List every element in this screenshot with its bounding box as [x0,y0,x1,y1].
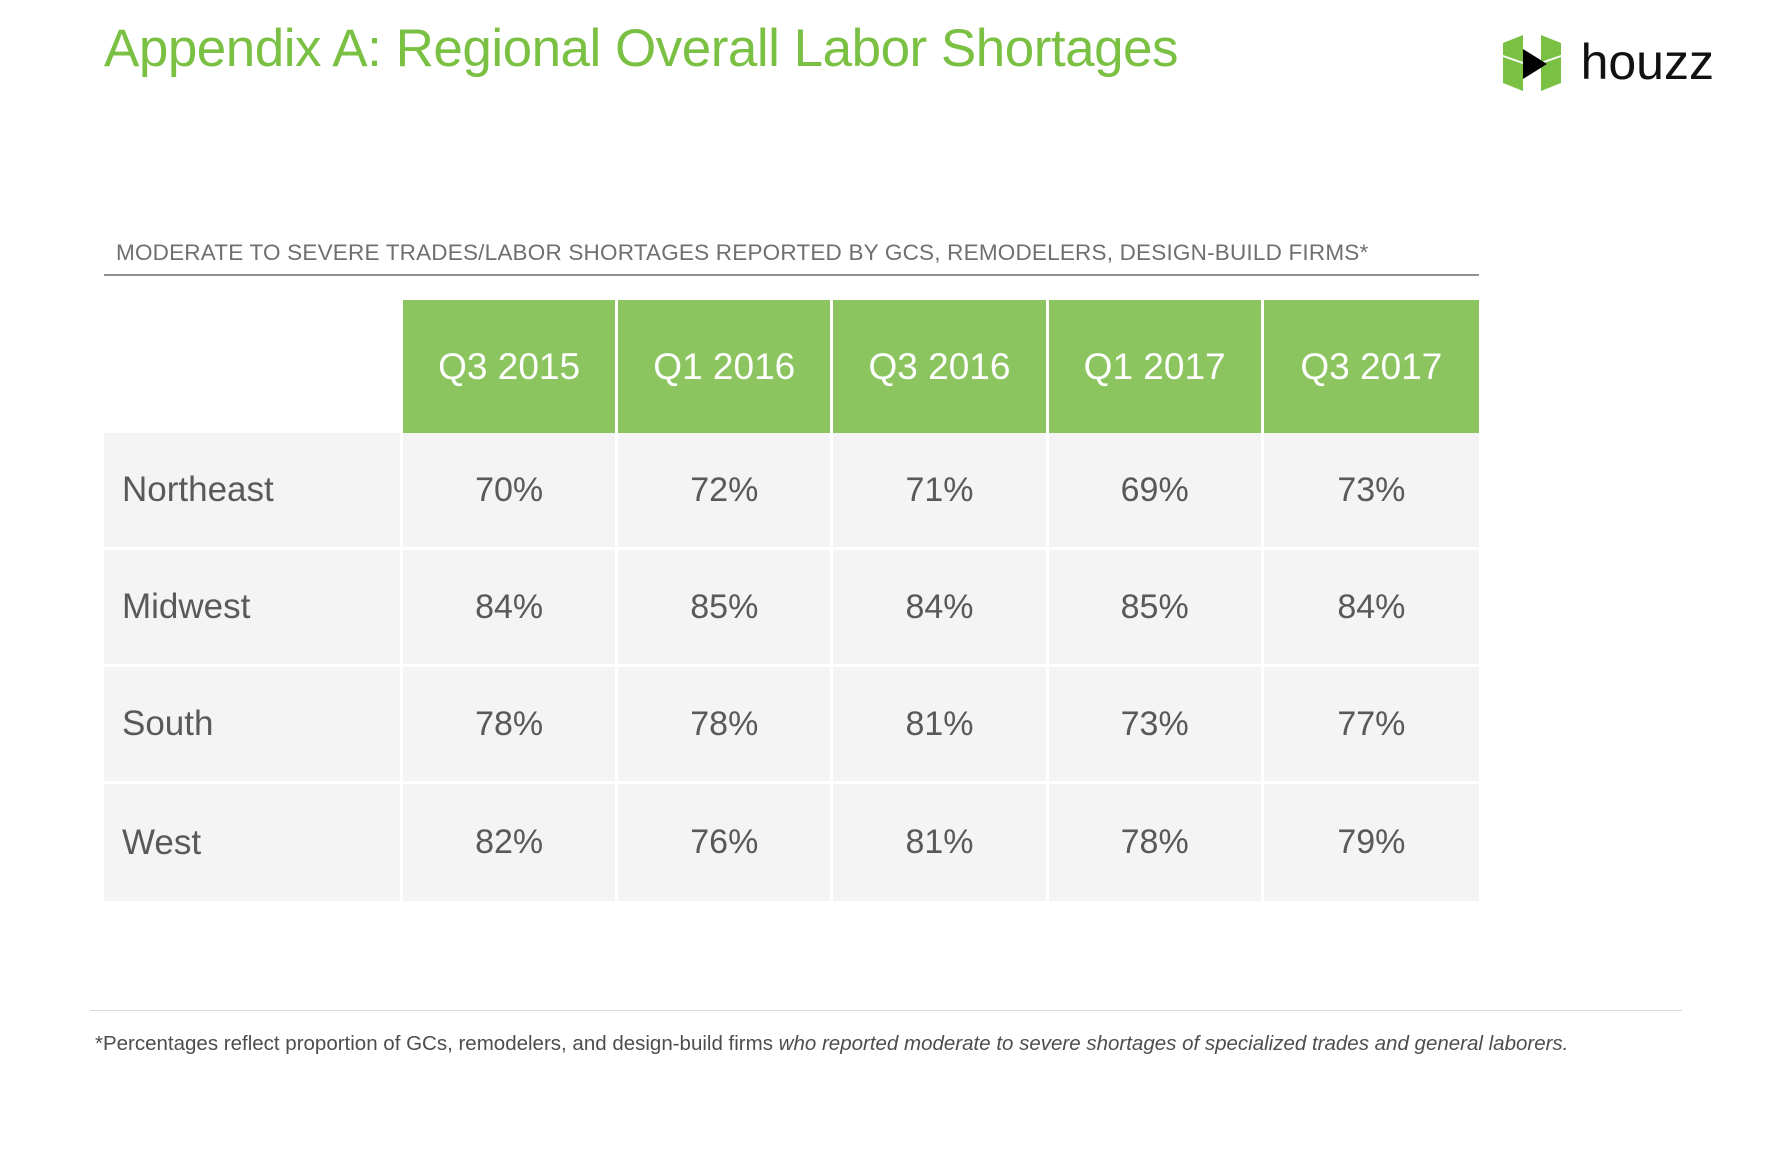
cell-south-q3-2017: 77% [1264,667,1479,784]
cell-northeast-q3-2017: 73% [1264,433,1479,550]
labor-shortage-table: Q3 2015 Q1 2016 Q3 2016 Q1 2017 Q3 2017 … [104,300,1479,901]
section-divider [104,274,1479,276]
table-corner-cell [104,300,403,433]
footnote: *Percentages reflect proportion of GCs, … [95,1032,1568,1056]
column-header-q3-2017: Q3 2017 [1264,300,1479,433]
brand-lockup: houzz [1501,33,1714,95]
data-table-container: Q3 2015 Q1 2016 Q3 2016 Q1 2017 Q3 2017 … [104,300,1479,901]
cell-midwest-q1-2017: 85% [1049,550,1264,667]
cell-west-q3-2016: 81% [833,784,1048,901]
column-header-q3-2015: Q3 2015 [403,300,618,433]
table-body: Northeast 70% 72% 71% 69% 73% Midwest 84… [104,433,1479,901]
cell-northeast-q1-2016: 72% [618,433,833,550]
cell-west-q1-2016: 76% [618,784,833,901]
table-row: West 82% 76% 81% 78% 79% [104,784,1479,901]
table-row: Midwest 84% 85% 84% 85% 84% [104,550,1479,667]
cell-northeast-q3-2016: 71% [833,433,1048,550]
table-header-row: Q3 2015 Q1 2016 Q3 2016 Q1 2017 Q3 2017 [104,300,1479,433]
footnote-divider [90,1010,1682,1011]
table-row: Northeast 70% 72% 71% 69% 73% [104,433,1479,550]
cell-northeast-q3-2015: 70% [403,433,618,550]
cell-midwest-q1-2016: 85% [618,550,833,667]
brand-wordmark: houzz [1581,37,1714,91]
column-header-q3-2016: Q3 2016 [833,300,1048,433]
cell-south-q1-2016: 78% [618,667,833,784]
table-header: Q3 2015 Q1 2016 Q3 2016 Q1 2017 Q3 2017 [104,300,1479,433]
table-row: South 78% 78% 81% 73% 77% [104,667,1479,784]
cell-south-q3-2016: 81% [833,667,1048,784]
cell-midwest-q3-2016: 84% [833,550,1048,667]
houzz-logo-icon [1501,33,1563,95]
row-label-midwest: Midwest [104,550,403,667]
cell-northeast-q1-2017: 69% [1049,433,1264,550]
row-label-south: South [104,667,403,784]
cell-west-q3-2015: 82% [403,784,618,901]
cell-south-q3-2015: 78% [403,667,618,784]
row-label-west: West [104,784,403,901]
column-header-q1-2016: Q1 2016 [618,300,833,433]
footnote-italic-text: who reported moderate to severe shortage… [779,1032,1569,1055]
chart-subtitle: MODERATE TO SEVERE TRADES/LABOR SHORTAGE… [116,240,1368,266]
page-title: Appendix A: Regional Overall Labor Short… [104,18,1178,79]
cell-midwest-q3-2015: 84% [403,550,618,667]
slide-canvas: Appendix A: Regional Overall Labor Short… [0,0,1772,1164]
cell-south-q1-2017: 73% [1049,667,1264,784]
row-label-northeast: Northeast [104,433,403,550]
cell-west-q3-2017: 79% [1264,784,1479,901]
column-header-q1-2017: Q1 2017 [1049,300,1264,433]
cell-midwest-q3-2017: 84% [1264,550,1479,667]
cell-west-q1-2017: 78% [1049,784,1264,901]
footnote-plain-text: *Percentages reflect proportion of GCs, … [95,1032,779,1055]
